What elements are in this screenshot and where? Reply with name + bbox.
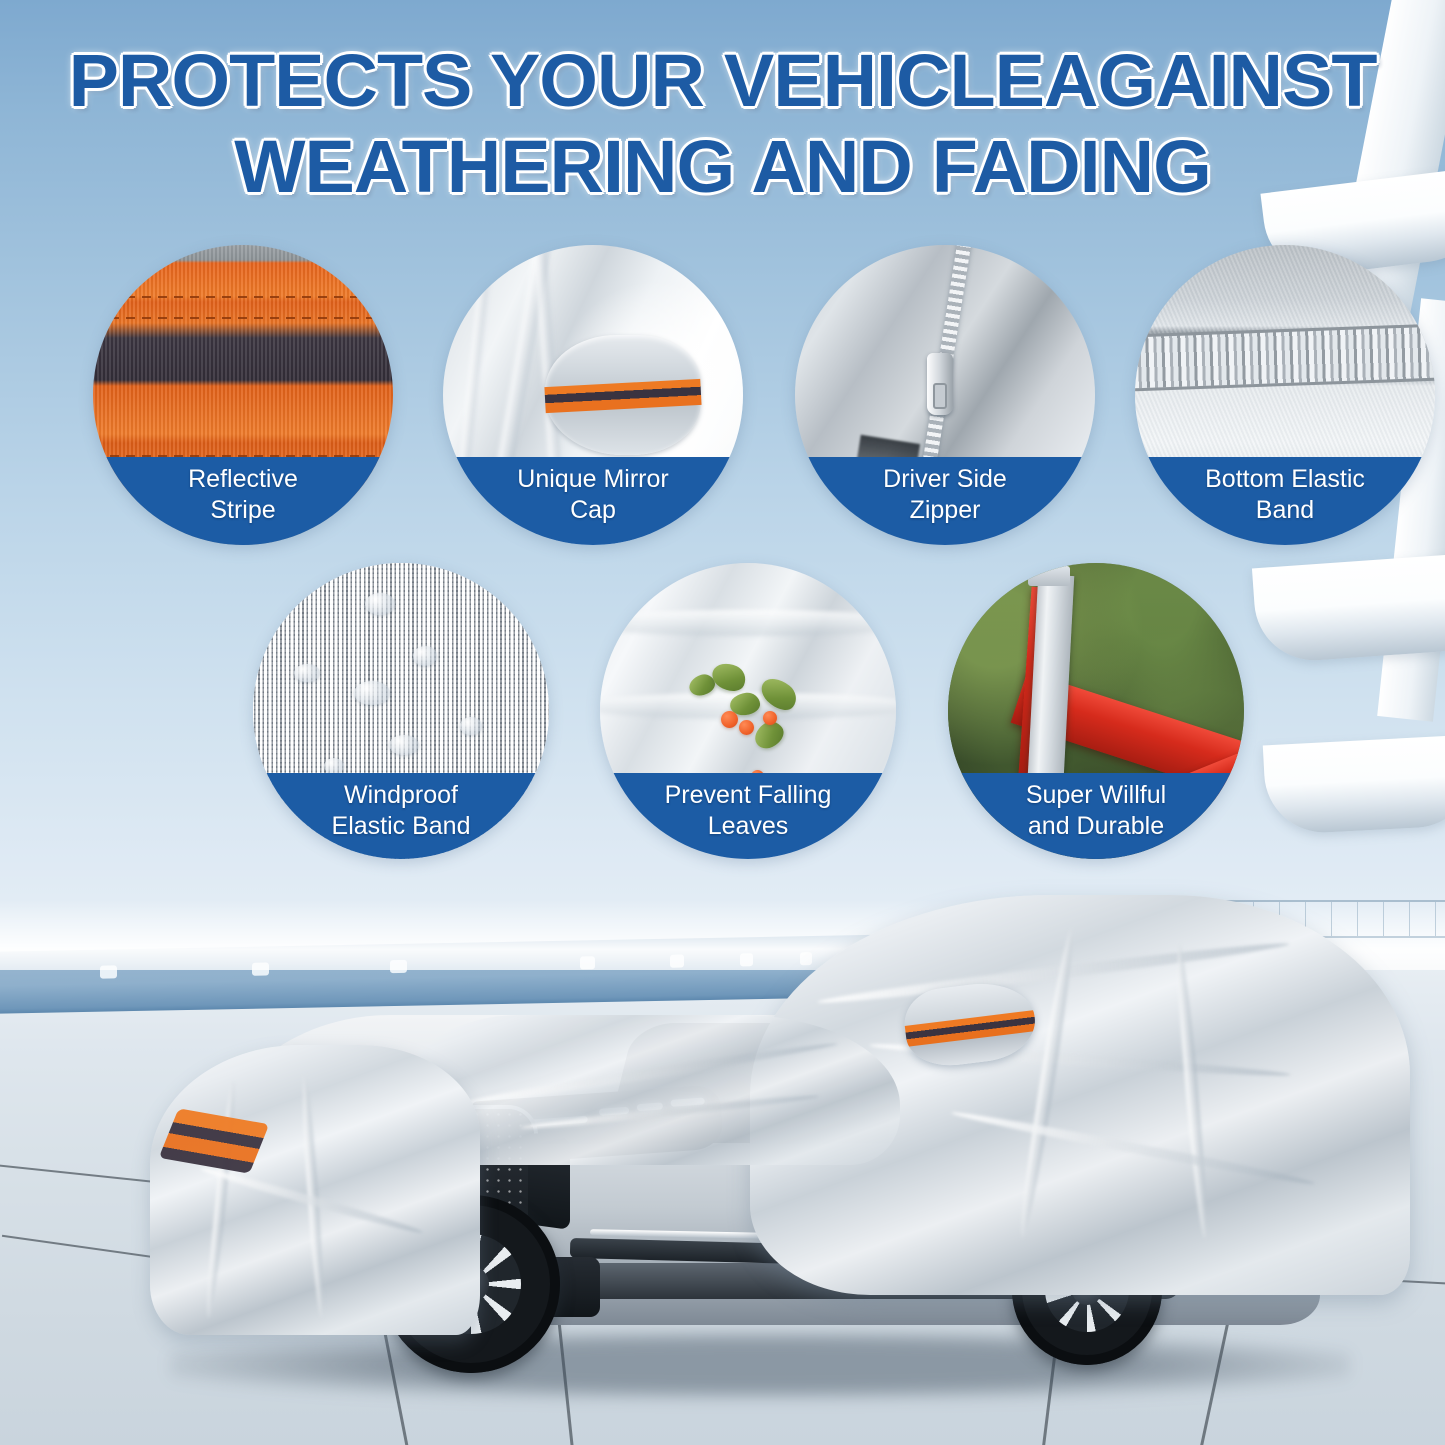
car-cover-front-section: [150, 1045, 480, 1335]
orange-reflective-stripe: [544, 379, 701, 414]
feature-prevent-falling-leaves[interactable]: Prevent Falling Leaves: [600, 563, 896, 859]
feature-reflective-stripe[interactable]: Reflective Stripe: [93, 245, 393, 545]
feature-label-line-1: Bottom Elastic: [1205, 464, 1365, 495]
water-droplet-icon: [460, 717, 482, 735]
headline: PROTECTS YOUR VEHICLEAGAINST WEATHERING …: [0, 38, 1445, 210]
water-droplet-icon: [365, 593, 395, 615]
headline-line-1: PROTECTS YOUR VEHICLEAGAINST: [69, 39, 1377, 122]
mirror-pocket-reflective-stripe: [901, 1009, 1040, 1048]
berry-icon: [763, 711, 777, 725]
zipper-pull-icon: [927, 353, 953, 415]
feature-label-line-2: Elastic Band: [332, 811, 471, 842]
elastic-gather-icon: [1135, 323, 1435, 392]
water-droplet-icon: [389, 735, 419, 755]
feature-label-band: Prevent Falling Leaves: [600, 773, 896, 859]
product-feature-poster: PROTECTS YOUR VEHICLEAGAINST WEATHERING …: [0, 0, 1445, 1445]
mirror-pocket-shape: [545, 335, 701, 455]
headline-line-2: WEATHERING AND FADING: [0, 124, 1445, 210]
feature-label-line-2: Stripe: [210, 495, 275, 526]
feature-label-band: Reflective Stripe: [93, 457, 393, 545]
feature-label-line-1: Reflective: [188, 464, 298, 495]
feature-label-line-1: Prevent Falling: [665, 780, 832, 811]
feature-label-band: Unique Mirror Cap: [443, 457, 743, 545]
feature-label-band: Bottom Elastic Band: [1135, 457, 1435, 545]
feature-label-line-2: Leaves: [708, 811, 789, 842]
feature-label-line-1: Unique Mirror: [517, 464, 668, 495]
water-droplet-icon: [354, 681, 390, 705]
feature-label-line-2: Zipper: [910, 495, 981, 526]
feature-label-line-2: Band: [1256, 495, 1314, 526]
feature-bottom-elastic-band[interactable]: Bottom Elastic Band: [1135, 245, 1435, 545]
feature-driver-side-zipper[interactable]: Driver Side Zipper: [795, 245, 1095, 545]
feature-label-band: Super Willful and Durable: [948, 773, 1244, 859]
strap-end: [1028, 566, 1070, 586]
feature-label-band: Driver Side Zipper: [795, 457, 1095, 545]
berry-icon: [721, 711, 738, 728]
feature-super-willful-and-durable[interactable]: Super Willful and Durable: [948, 563, 1244, 859]
hero-car-with-cover: [150, 895, 1410, 1435]
feature-label-line-2: Cap: [570, 495, 616, 526]
water-droplet-icon: [413, 646, 437, 666]
leaf-icon: [709, 658, 751, 696]
feature-label-line-1: Driver Side: [883, 464, 1007, 495]
berry-icon: [739, 720, 754, 735]
water-droplet-icon: [294, 664, 320, 682]
feature-unique-mirror-cap[interactable]: Unique Mirror Cap: [443, 245, 743, 545]
feature-label-line-1: Super Willful: [1026, 780, 1166, 811]
feature-label-band: Windproof Elastic Band: [253, 773, 549, 859]
feature-label-line-1: Windproof: [344, 780, 458, 811]
feature-label-line-2: and Durable: [1028, 811, 1164, 842]
feature-windproof-elastic-band[interactable]: Windproof Elastic Band: [253, 563, 549, 859]
